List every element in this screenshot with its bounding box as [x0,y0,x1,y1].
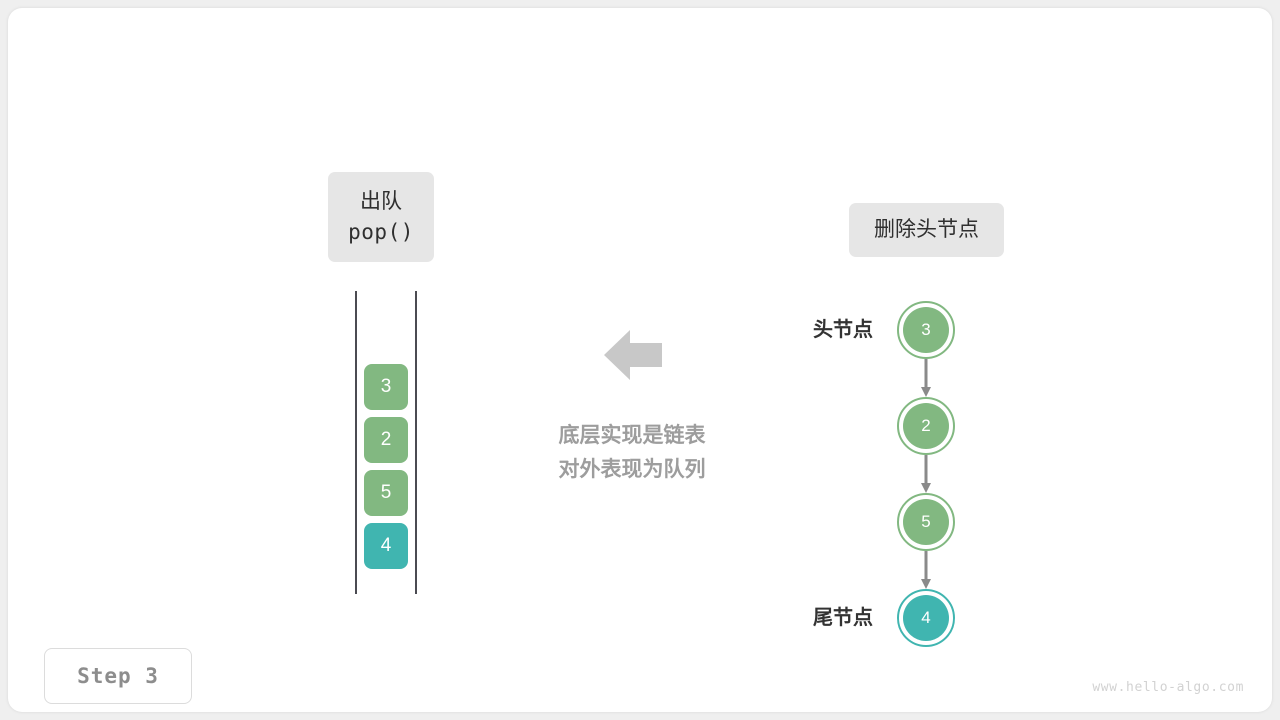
linked-list-node-value: 4 [921,608,930,628]
caption-line-2: 对外表现为队列 [505,453,759,487]
left-block-arrow-icon [604,328,662,382]
operation-chip-line-1: 出队 [360,187,402,217]
linked-list-node-value: 2 [921,416,930,436]
link-arrow-icon [921,359,931,397]
linked-list-node-value: 5 [921,512,930,532]
queue-cell: 4 [364,523,408,569]
queue-container: 3254 [348,291,424,594]
step-badge: Step 3 [44,648,192,704]
queue-cell: 3 [364,364,408,410]
queue-rail-right [415,291,417,594]
action-chip: 删除头节点 [849,203,1004,257]
caption-text: 底层实现是链表 对外表现为队列 [505,419,759,487]
queue-cell-value: 2 [381,429,392,451]
linked-list-node-inner: 3 [903,307,949,353]
queue-cell: 2 [364,417,408,463]
caption-line-1: 底层实现是链表 [505,419,759,453]
operation-chip: 出队 pop() [328,172,434,262]
linked-list-node: 3 [897,301,955,359]
figure-canvas: 出队 pop() 删除头节点 3254 底层实现是链表 对外表现为队列 3头节点… [0,0,1280,720]
queue-cell-value: 3 [381,376,392,398]
operation-chip-line-2: pop() [348,217,414,247]
linked-list-node: 5 [897,493,955,551]
linked-list-container: 3头节点254尾节点 [778,293,998,658]
link-arrow-icon [921,455,931,493]
queue-cell: 5 [364,470,408,516]
link-arrow-icon [921,551,931,589]
action-chip-label: 删除头节点 [874,215,979,245]
queue-cell-value: 4 [381,535,392,557]
queue-cell-value: 5 [381,482,392,504]
linked-list-node: 2 [897,397,955,455]
linked-list-node-inner: 4 [903,595,949,641]
linked-list-node-inner: 2 [903,403,949,449]
watermark: www.hello-algo.com [1092,680,1244,695]
linked-list-node-inner: 5 [903,499,949,545]
linked-list-node-value: 3 [921,320,930,340]
linked-list-node-label: 头节点 [763,301,873,359]
queue-rail-left [355,291,357,594]
linked-list-node: 4 [897,589,955,647]
linked-list-node-label: 尾节点 [763,589,873,647]
figure-card: 出队 pop() 删除头节点 3254 底层实现是链表 对外表现为队列 3头节点… [8,8,1272,712]
